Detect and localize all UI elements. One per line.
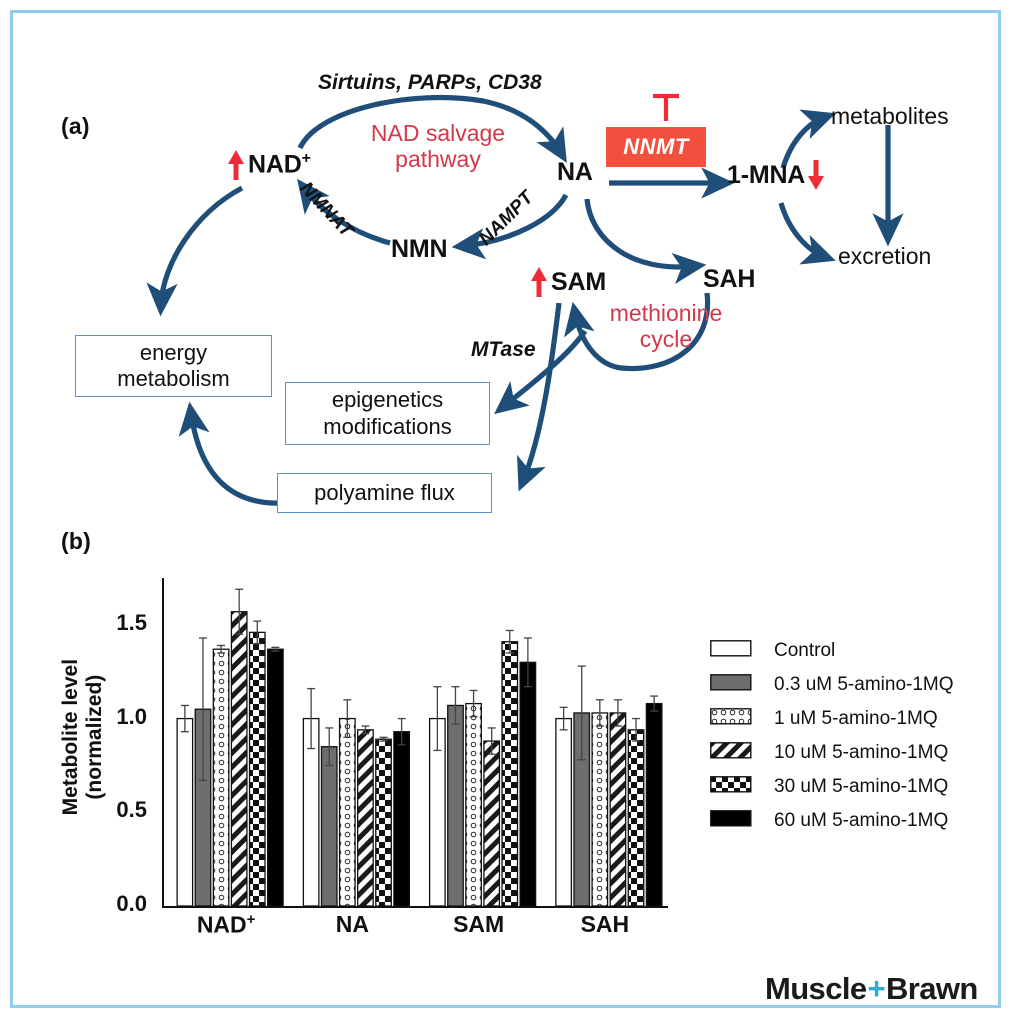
nad-salvage-line1: NAD salvage (343, 121, 533, 147)
node-metabolites: metabolites (831, 103, 949, 130)
legend-item[interactable]: 10 uM 5-amino-1MQ (710, 742, 954, 764)
figure-stage: (a) (13, 13, 1004, 1011)
node-nmn: NMN (391, 235, 447, 264)
node-nad: NAD+ (225, 148, 311, 182)
y-tick-label: 1.5 (73, 610, 147, 636)
watermark-logo: Muscle+Brawn (765, 971, 978, 1007)
sirtuins-label: Sirtuins, PARPs, CD38 (318, 71, 542, 95)
legend-label: 1 uM 5-amino-1MQ (774, 708, 938, 730)
inhibition-icon (648, 91, 684, 125)
x-category-label: NAD+ (163, 911, 289, 939)
legend-swatch (710, 640, 752, 662)
legend-label: 0.3 uM 5-amino-1MQ (774, 674, 954, 696)
node-sah: SAH (703, 265, 755, 294)
bar (268, 649, 284, 906)
x-category-label: NA (289, 911, 415, 938)
figure-frame: (a) (10, 10, 1001, 1008)
bar (628, 730, 644, 906)
legend-swatch (710, 708, 752, 730)
bar (177, 719, 193, 906)
bar (340, 719, 356, 906)
bar (250, 632, 266, 906)
legend-item[interactable]: 30 uM 5-amino-1MQ (710, 776, 954, 798)
bar (321, 747, 337, 906)
y-tick-label: 0.0 (73, 891, 147, 917)
bar (556, 719, 572, 906)
bar (466, 704, 482, 906)
chart-plot-area (163, 578, 668, 908)
x-category-label: SAH (542, 911, 668, 938)
legend-swatch (710, 776, 752, 798)
energy-line2: metabolism (117, 366, 229, 392)
y-tick-labels: 0.00.51.01.5 (73, 578, 157, 918)
legend-item[interactable]: 0.3 uM 5-amino-1MQ (710, 674, 954, 696)
legend-swatch (710, 810, 752, 832)
logo-part1: Muscle (765, 971, 867, 1006)
bar (520, 662, 536, 906)
node-sam: SAM (528, 265, 606, 299)
bar (592, 713, 608, 906)
legend-swatch (710, 742, 752, 764)
node-1mna: 1-MNA (727, 158, 827, 192)
node-na: NA (557, 158, 593, 187)
bar (646, 704, 662, 906)
energy-line1: energy (117, 340, 229, 366)
y-tick-label: 0.5 (73, 797, 147, 823)
bar (376, 739, 392, 906)
node-excretion: excretion (838, 243, 931, 270)
methionine-line2: cycle (601, 327, 731, 353)
legend-swatch (710, 674, 752, 696)
node-sam-label: SAM (551, 268, 606, 297)
nad-salvage-line2: pathway (343, 147, 533, 173)
legend-label: Control (774, 640, 835, 662)
methionine-cycle-label: methionine cycle (601, 301, 731, 353)
epigenetics-line2: modifications (323, 414, 451, 440)
legend-label: 30 uM 5-amino-1MQ (774, 776, 948, 798)
bar (610, 713, 626, 906)
box-energy-metabolism[interactable]: energy metabolism (75, 335, 272, 397)
bar (394, 732, 410, 906)
nnmt-box[interactable]: NNMT (606, 127, 706, 167)
red-down-arrow-icon (805, 158, 827, 192)
methionine-line1: methionine (601, 301, 731, 327)
mtase-label: MTase (471, 338, 536, 362)
chart-legend: Control 0.3 uM 5-amino-1MQ 1 uM 5-amino-… (710, 640, 954, 844)
bar (448, 705, 464, 906)
logo-plus-icon: + (867, 971, 887, 1006)
legend-item[interactable]: 60 uM 5-amino-1MQ (710, 810, 954, 832)
x-category-label: SAM (416, 911, 542, 938)
bar (484, 741, 500, 906)
bar (358, 730, 374, 906)
bar (502, 642, 518, 906)
box-polyamine-flux[interactable]: polyamine flux (277, 473, 492, 513)
nad-salvage-label: NAD salvage pathway (343, 121, 533, 173)
epigenetics-line1: epigenetics (323, 387, 451, 413)
bar (213, 649, 229, 906)
node-1mna-label: 1-MNA (727, 161, 805, 190)
panel-b-label: (b) (61, 528, 91, 555)
legend-label: 60 uM 5-amino-1MQ (774, 810, 948, 832)
legend-item[interactable]: Control (710, 640, 954, 662)
red-up-arrow-icon (225, 148, 247, 182)
legend-item[interactable]: 1 uM 5-amino-1MQ (710, 708, 954, 730)
legend-label: 10 uM 5-amino-1MQ (774, 742, 948, 764)
red-up-arrow-icon-sam (528, 265, 550, 299)
logo-part2: Brawn (886, 971, 978, 1006)
y-tick-label: 1.0 (73, 704, 147, 730)
bar (231, 612, 247, 906)
box-epigenetics[interactable]: epigenetics modifications (285, 382, 490, 445)
node-nad-label: NAD+ (248, 150, 311, 179)
